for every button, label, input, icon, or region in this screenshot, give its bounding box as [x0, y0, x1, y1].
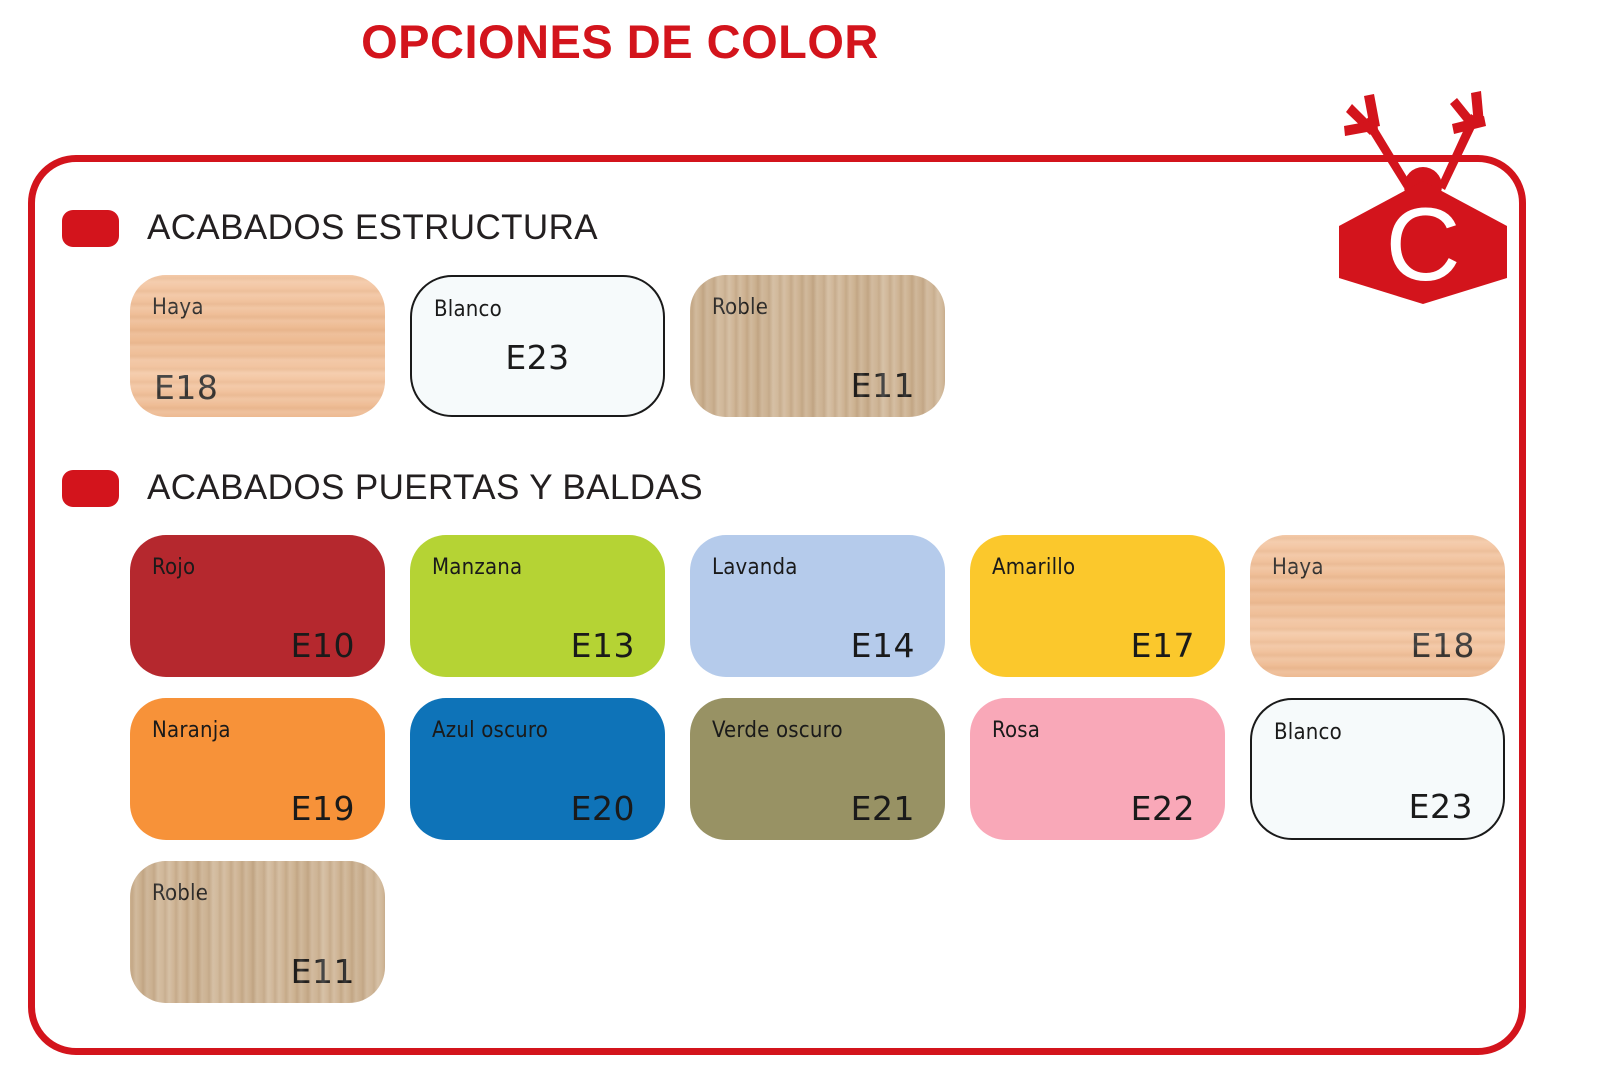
section-title: ACABADOS ESTRUCTURA — [147, 208, 598, 248]
swatch-row: Roble E11 — [130, 861, 1505, 1003]
section-bullet-icon — [62, 210, 119, 247]
swatch-code: E21 — [851, 789, 915, 828]
swatch-name: Haya — [152, 295, 204, 320]
swatch-code: E11 — [851, 366, 915, 405]
swatch-roble-e11[interactable]: Roble E11 — [690, 275, 945, 417]
brand-logo: C — [1330, 82, 1526, 308]
logo-letter: C — [1385, 187, 1460, 303]
swatch-row: Rojo E10 Manzana E13 Lavanda E14 Amarill… — [130, 535, 1505, 677]
swatch-row: Naranja E19 Azul oscuro E20 Verde oscuro… — [130, 698, 1505, 840]
section-bullet-icon — [62, 470, 119, 507]
swatch-name: Azul oscuro — [432, 718, 548, 743]
swatch-code: E17 — [1131, 626, 1195, 665]
page-title: OPCIONES DE COLOR — [0, 14, 1240, 69]
swatch-name: Blanco — [1274, 720, 1342, 745]
swatch-code: E10 — [291, 626, 355, 665]
swatch-name: Lavanda — [712, 555, 798, 580]
swatch-code: E19 — [291, 789, 355, 828]
swatch-code: E18 — [1411, 626, 1475, 665]
swatch-name: Rosa — [992, 718, 1040, 743]
swatch-code: E23 — [1409, 787, 1473, 826]
swatch-name: Haya — [1272, 555, 1324, 580]
swatch-haya-e18[interactable]: Haya E18 — [130, 275, 385, 417]
swatch-lavanda-e14[interactable]: Lavanda E14 — [690, 535, 945, 677]
swatch-name: Rojo — [152, 555, 195, 580]
swatch-code: E18 — [154, 368, 218, 407]
swatch-blanco-e23[interactable]: Blanco E23 — [410, 275, 665, 417]
swatch-name: Roble — [152, 881, 208, 906]
swatch-azul-oscuro-e20[interactable]: Azul oscuro E20 — [410, 698, 665, 840]
section-header: ACABADOS PUERTAS Y BALDAS — [62, 460, 1505, 516]
swatch-code: E22 — [1131, 789, 1195, 828]
swatch-name: Naranja — [152, 718, 231, 743]
swatch-blanco-e23-doors[interactable]: Blanco E23 — [1250, 698, 1505, 840]
swatch-naranja-e19[interactable]: Naranja E19 — [130, 698, 385, 840]
swatch-row: Haya E18 Blanco E23 Roble E11 — [130, 275, 945, 417]
swatch-name: Amarillo — [992, 555, 1075, 580]
swatch-rosa-e22[interactable]: Rosa E22 — [970, 698, 1225, 840]
color-options-page: OPCIONES DE COLOR C — [0, 0, 1600, 1070]
swatch-name: Blanco — [434, 297, 502, 322]
swatch-code: E13 — [571, 626, 635, 665]
section-title: ACABADOS PUERTAS Y BALDAS — [147, 468, 703, 508]
section-header: ACABADOS ESTRUCTURA — [62, 200, 945, 256]
swatch-code: E20 — [571, 789, 635, 828]
swatch-haya-e18-doors[interactable]: Haya E18 — [1250, 535, 1505, 677]
swatch-manzana-e13[interactable]: Manzana E13 — [410, 535, 665, 677]
swatch-name: Verde oscuro — [712, 718, 843, 743]
swatch-name: Manzana — [432, 555, 522, 580]
swatch-code: E14 — [851, 626, 915, 665]
swatch-roble-e11-doors[interactable]: Roble E11 — [130, 861, 385, 1003]
swatch-rojo-e10[interactable]: Rojo E10 — [130, 535, 385, 677]
swatch-code: E23 — [412, 338, 663, 377]
swatch-name: Roble — [712, 295, 768, 320]
section-acabados-estructura: ACABADOS ESTRUCTURA Haya E18 Blanco E23 … — [62, 200, 945, 417]
swatch-code: E11 — [291, 952, 355, 991]
section-acabados-puertas-y-baldas: ACABADOS PUERTAS Y BALDAS Rojo E10 Manza… — [62, 460, 1505, 1003]
swatch-amarillo-e17[interactable]: Amarillo E17 — [970, 535, 1225, 677]
swatch-verde-oscuro-e21[interactable]: Verde oscuro E21 — [690, 698, 945, 840]
